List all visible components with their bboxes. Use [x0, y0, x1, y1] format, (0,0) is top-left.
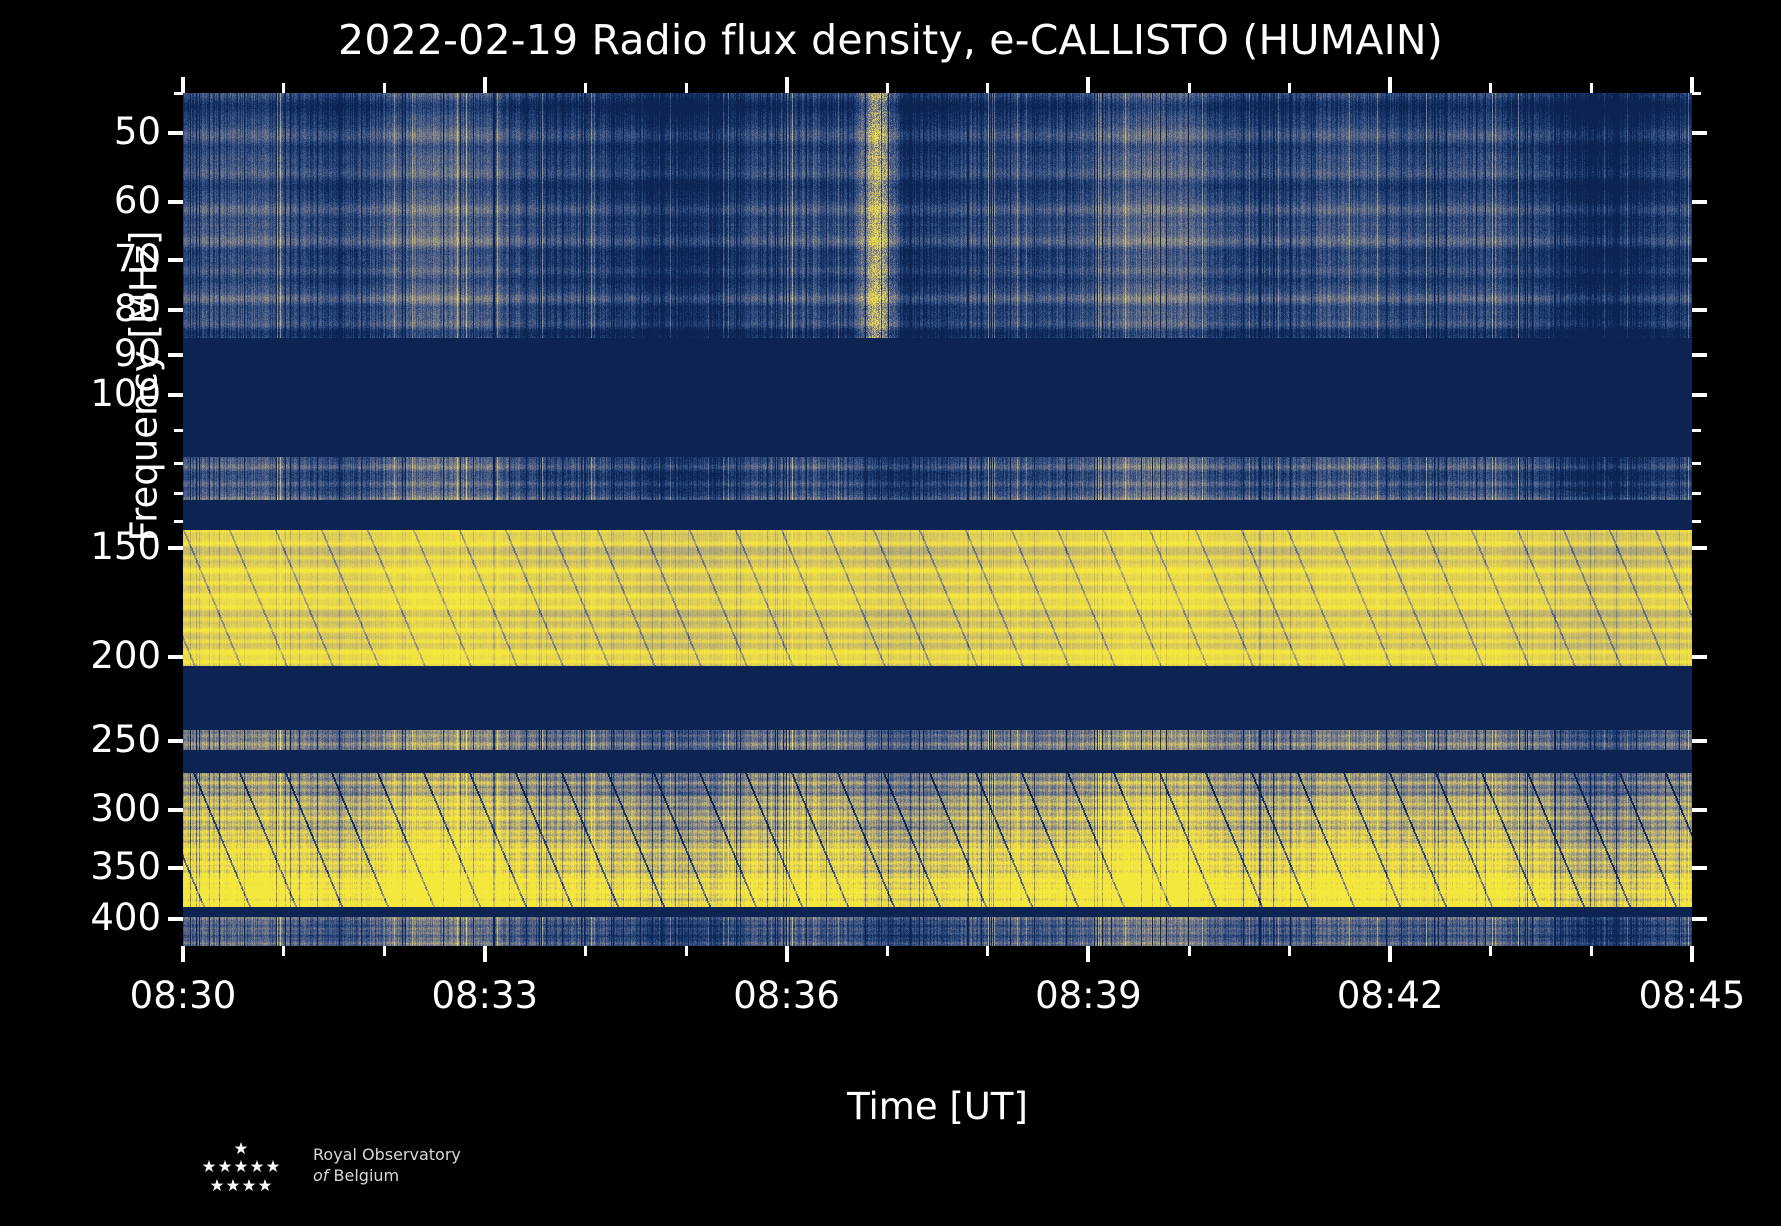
- y-tick-mark: [168, 393, 183, 397]
- y-tick-label: 200: [90, 633, 161, 679]
- logo-of-word: of: [313, 1166, 328, 1185]
- y-tick-label: 300: [90, 786, 161, 832]
- y-tick-mark: [1692, 462, 1701, 465]
- x-tick-mark: [685, 946, 688, 956]
- y-tick-mark: [1692, 131, 1707, 135]
- logo-text: Royal Observatory of Belgium: [313, 1144, 613, 1186]
- x-tick-mark: [1388, 946, 1392, 962]
- royal-observatory-logo: Royal Observatory of Belgium: [195, 1140, 615, 1210]
- x-tick-label: 08:30: [73, 974, 293, 1017]
- x-tick-mark: [483, 77, 487, 93]
- y-tick-mark: [1692, 429, 1701, 432]
- y-tick-label: 250: [90, 717, 161, 763]
- y-tick-mark: [168, 739, 183, 743]
- y-tick-mark: [174, 520, 183, 523]
- y-tick-mark: [1692, 546, 1707, 550]
- y-tick-mark: [1692, 393, 1707, 397]
- y-tick-mark: [174, 492, 183, 495]
- x-tick-mark: [1489, 83, 1492, 93]
- x-tick-mark: [282, 83, 285, 93]
- y-tick-mark: [1692, 739, 1707, 743]
- y-tick-mark: [168, 308, 183, 312]
- x-tick-mark: [785, 946, 789, 962]
- x-tick-mark: [685, 83, 688, 93]
- eu-stars-icon: [195, 1140, 300, 1202]
- y-tick-label: 100: [90, 371, 161, 417]
- y-tick-mark: [168, 808, 183, 812]
- x-tick-mark: [1086, 946, 1090, 962]
- x-tick-label: 08:45: [1582, 974, 1781, 1017]
- x-tick-mark: [584, 946, 587, 956]
- y-tick-mark: [1692, 492, 1701, 495]
- spectrogram-plot-area[interactable]: [183, 93, 1692, 946]
- x-tick-mark: [1388, 77, 1392, 93]
- y-tick-mark: [174, 462, 183, 465]
- y-tick-mark: [1692, 917, 1707, 921]
- y-tick-mark: [168, 546, 183, 550]
- figure-canvas: 2022-02-19 Radio flux density, e-CALLIST…: [0, 0, 1781, 1226]
- y-tick-label: 400: [90, 895, 161, 941]
- y-tick-label: 350: [90, 844, 161, 890]
- y-tick-mark: [168, 917, 183, 921]
- y-tick-mark: [1692, 655, 1707, 659]
- y-tick-mark: [168, 353, 183, 357]
- y-tick-mark: [1692, 353, 1707, 357]
- y-tick-label: 60: [114, 178, 161, 224]
- y-tick-mark: [174, 429, 183, 432]
- x-tick-mark: [1288, 946, 1291, 956]
- y-tick-mark: [1692, 308, 1707, 312]
- x-tick-mark: [181, 946, 185, 962]
- x-tick-mark: [1690, 946, 1694, 962]
- x-tick-mark: [181, 77, 185, 93]
- x-tick-mark: [1086, 77, 1090, 93]
- x-tick-mark: [886, 946, 889, 956]
- y-tick-mark: [168, 655, 183, 659]
- x-tick-mark: [1188, 83, 1191, 93]
- x-tick-label: 08:33: [375, 974, 595, 1017]
- y-tick-label: 70: [114, 236, 161, 282]
- x-tick-mark: [1690, 77, 1694, 93]
- y-tick-mark: [1692, 258, 1707, 262]
- x-tick-label: 08:42: [1280, 974, 1500, 1017]
- x-tick-mark: [886, 83, 889, 93]
- y-tick-mark: [1692, 520, 1701, 523]
- spectrogram-image: [183, 93, 1692, 946]
- x-tick-mark: [483, 946, 487, 962]
- y-tick-label: 150: [90, 524, 161, 570]
- x-tick-label: 08:39: [978, 974, 1198, 1017]
- logo-line-1: Royal Observatory: [313, 1144, 613, 1165]
- logo-line-2: of Belgium: [313, 1165, 613, 1186]
- page-title: 2022-02-19 Radio flux density, e-CALLIST…: [0, 16, 1781, 64]
- x-tick-mark: [785, 77, 789, 93]
- x-tick-mark: [584, 83, 587, 93]
- y-tick-mark: [168, 866, 183, 870]
- x-tick-mark: [1188, 946, 1191, 956]
- y-tick-mark: [1692, 866, 1707, 870]
- y-tick-mark: [168, 200, 183, 204]
- y-tick-label: 50: [114, 109, 161, 155]
- x-tick-mark: [383, 946, 386, 956]
- y-tick-mark: [1692, 808, 1707, 812]
- logo-belgium-word: Belgium: [334, 1166, 400, 1185]
- y-tick-mark: [1692, 200, 1707, 204]
- x-tick-mark: [986, 83, 989, 93]
- x-tick-mark: [1590, 946, 1593, 956]
- x-tick-mark: [383, 83, 386, 93]
- y-tick-mark: [168, 258, 183, 262]
- x-tick-mark: [282, 946, 285, 956]
- y-tick-label: 80: [114, 286, 161, 332]
- x-axis-label: Time [UT]: [183, 1085, 1692, 1128]
- x-tick-mark: [1288, 83, 1291, 93]
- x-tick-mark: [1590, 83, 1593, 93]
- x-tick-label: 08:36: [677, 974, 897, 1017]
- y-tick-mark: [168, 131, 183, 135]
- x-tick-mark: [1489, 946, 1492, 956]
- x-tick-mark: [986, 946, 989, 956]
